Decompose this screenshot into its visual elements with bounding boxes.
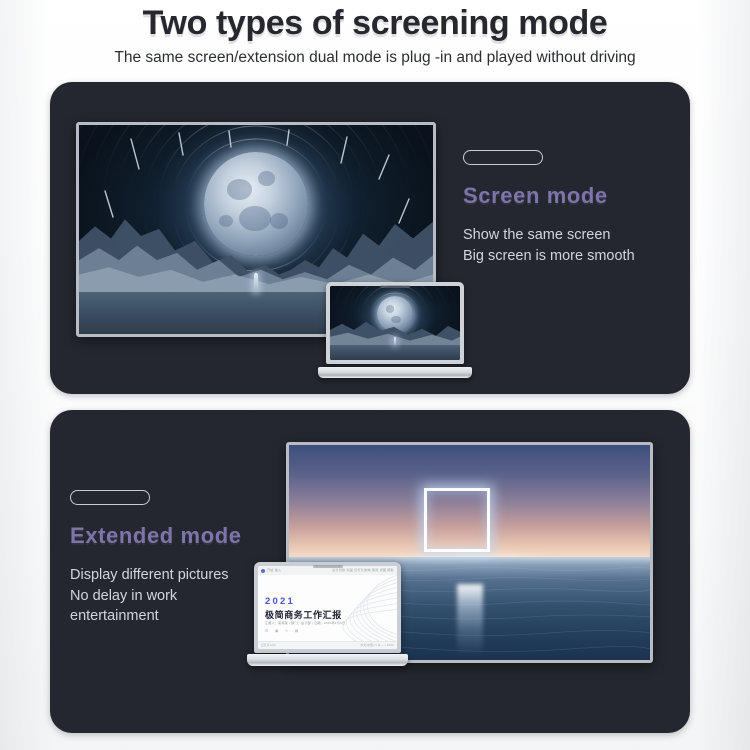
screen-mode-text-block: Screen mode Show the same screen Big scr… <box>463 150 635 266</box>
laptop-mirrored-screen <box>318 282 472 378</box>
slide-subline: 汇报人：某某某 | 部门：设计部 | 日期：2021年1月1日 <box>265 620 345 625</box>
moonlight-reflection-graphic <box>457 584 483 656</box>
page-title: Two types of screening mode <box>0 2 750 44</box>
slide-year-label: 2021 <box>265 596 295 607</box>
laptop-camera-notch <box>380 285 410 288</box>
panel-extended-mode: Extended mode Display different pictures… <box>50 410 690 733</box>
screen-mode-title: Screen mode <box>463 183 635 209</box>
slide-status-bar: 幻灯片 1/24 中文(中国) ▭ ⊞ — + 100% <box>258 641 397 649</box>
screen-mode-description: Show the same screen Big screen is more … <box>463 225 635 266</box>
slide-canvas: 2021 极简商务工作汇报 汇报人：某某某 | 部门：设计部 | 日期：2021… <box>258 575 397 642</box>
lake-water-graphic-small <box>330 345 460 360</box>
laptop-lid-2: 开始 插入 设计切换 动画 幻灯片放映 审阅 视图 帮助 <box>254 562 401 653</box>
panel-screen-mode: Screen mode Show the same screen Big scr… <box>50 82 690 394</box>
slide-status-left: 幻灯片 1/24 <box>261 643 276 647</box>
laptop-screen-presentation: 开始 插入 设计切换 动画 幻灯片放映 审阅 视图 帮助 <box>258 566 397 649</box>
decorative-pill-badge-2 <box>70 490 150 505</box>
presentation-slide: 开始 插入 设计切换 动画 幻灯片放映 审阅 视图 帮助 <box>258 566 397 649</box>
decorative-pill-badge <box>463 150 543 165</box>
standing-figure-graphic-small <box>394 337 396 345</box>
laptop-lid <box>326 282 464 364</box>
slide-status-right: 中文(中国) ▭ ⊞ — + 100% <box>360 643 394 647</box>
standing-figure-graphic <box>254 273 258 292</box>
app-logo-icon <box>261 569 265 573</box>
page-header: Two types of screening mode The same scr… <box>0 0 750 78</box>
page-subtitle: The same screen/extension dual mode is p… <box>0 48 750 68</box>
slide-menu-right[interactable]: 设计切换 动画 幻灯片放映 审阅 视图 帮助 <box>332 568 394 572</box>
laptop-screen-moon-scene <box>330 286 460 360</box>
slide-menu-left[interactable]: 开始 插入 <box>267 568 281 572</box>
laptop-extended-screen: 开始 插入 设计切换 动画 幻灯片放映 审阅 视图 帮助 <box>247 562 408 666</box>
laptop-camera-notch-2 <box>313 565 343 568</box>
extended-mode-description: Display different pictures No delay in w… <box>70 565 242 627</box>
extended-mode-text-block: Extended mode Display different pictures… <box>70 490 242 627</box>
laptop-base-2 <box>247 654 408 666</box>
laptop-base <box>318 367 472 378</box>
neon-square-frame-graphic <box>424 488 490 552</box>
extended-mode-title: Extended mode <box>70 523 242 549</box>
slide-icon-row: ☰ ▣ ✎ ▤ <box>265 629 301 633</box>
